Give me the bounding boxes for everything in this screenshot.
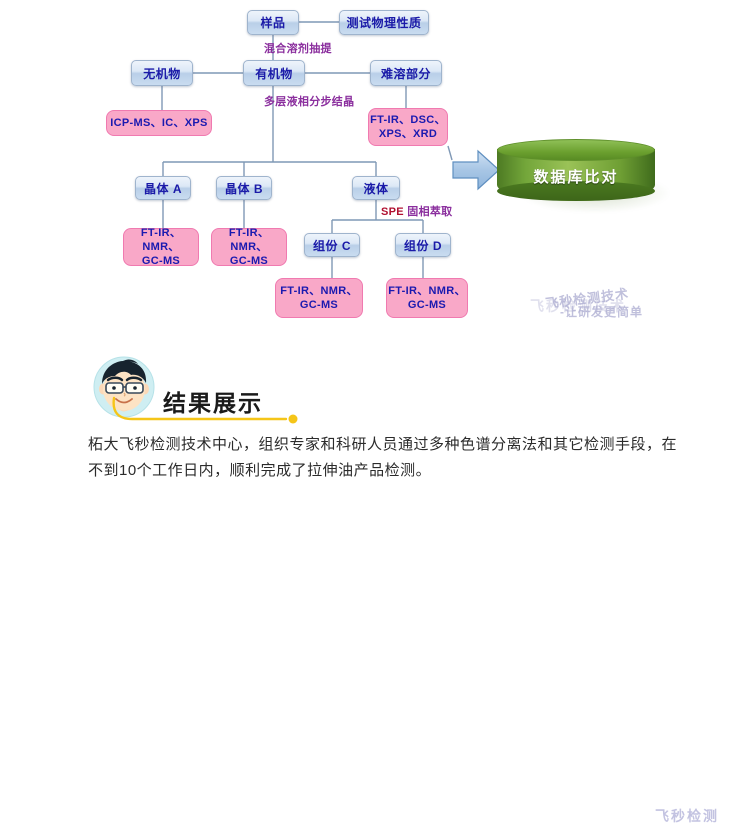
node-label: 组份 C [313,237,351,254]
node-label: 组份 D [404,237,442,254]
method-box-inorganic[interactable]: ICP-MS、IC、XPS [106,110,212,136]
result-paragraph: 柘大飞秒检测技术中心，组织专家和科研人员通过多种色谱分离法和其它检测手段，在不到… [88,432,688,484]
node-insoluble[interactable]: 难溶部分 [370,60,442,86]
watermark-sub: -让研发更简单 [560,303,643,320]
method-box-insoluble[interactable]: FT-IR、DSC、 XPS、XRD [368,108,448,146]
node-crystal-b[interactable]: 晶体 B [216,176,272,200]
node-physical-test[interactable]: 测试物理性质 [339,10,429,35]
method-label: FT-IR、NMR、 GC-MS [388,284,466,312]
method-label: FT-IR、NMR、 GC-MS [212,226,286,268]
node-label: 晶体 A [144,180,182,197]
node-fraction-d[interactable]: 组份 D [395,233,451,257]
watermark-corner: 飞秒检测 [655,806,719,826]
node-organic[interactable]: 有机物 [243,60,305,86]
node-inorganic[interactable]: 无机物 [131,60,193,86]
edge-label-spe: SPE 固相萃取 [381,203,452,219]
edge-label-mixed-solvent: 混合溶剂抽提 [264,40,332,56]
node-label: 难溶部分 [381,65,431,82]
node-label: 测试物理性质 [346,14,421,31]
edge-label-layered-crystallization: 多层液相分步结晶 [264,93,354,109]
node-label: 晶体 B [225,180,263,197]
edge-label-spe-prefix: SPE [381,206,404,218]
node-label: 有机物 [255,65,293,82]
edge-label-spe-suffix: 固相萃取 [404,206,453,218]
edge-label-text: 混合溶剂抽提 [264,43,332,55]
edge-label-text: 多层液相分步结晶 [264,96,354,108]
node-label: 样品 [260,14,285,31]
node-crystal-a[interactable]: 晶体 A [135,176,191,200]
method-label: FT-IR、NMR、 GC-MS [280,284,358,312]
database-label: 数据库比对 [497,163,655,189]
node-label: 液体 [363,180,388,197]
section-heading: 结果展示 [163,384,263,418]
method-box-crystal-b[interactable]: FT-IR、NMR、 GC-MS [211,228,287,266]
cylinder-top [497,139,655,161]
method-label: ICP-MS、IC、XPS [110,116,207,130]
database-cylinder: 数据库比对 [497,139,655,211]
analysis-flowchart: 样品 测试物理性质 无机物 有机物 难溶部分 晶体 A 晶体 B 液体 组份 C… [0,0,740,345]
method-box-fraction-c[interactable]: FT-IR、NMR、 GC-MS [275,278,363,318]
method-label: FT-IR、NMR、 GC-MS [124,226,198,268]
node-fraction-c[interactable]: 组份 C [304,233,360,257]
method-label: FT-IR、DSC、 XPS、XRD [370,113,446,141]
result-section: 结果展示 柘大飞秒检测技术中心，组织专家和科研人员通过多种色谱分离法和其它检测手… [0,348,740,494]
page-root: 样品 测试物理性质 无机物 有机物 难溶部分 晶体 A 晶体 B 液体 组份 C… [0,0,740,494]
node-sample[interactable]: 样品 [247,10,299,35]
node-label: 无机物 [143,65,181,82]
node-liquid[interactable]: 液体 [352,176,400,200]
method-box-fraction-d[interactable]: FT-IR、NMR、 GC-MS [386,278,468,318]
method-box-crystal-a[interactable]: FT-IR、NMR、 GC-MS [123,228,199,266]
right-arrow-icon [452,148,500,192]
